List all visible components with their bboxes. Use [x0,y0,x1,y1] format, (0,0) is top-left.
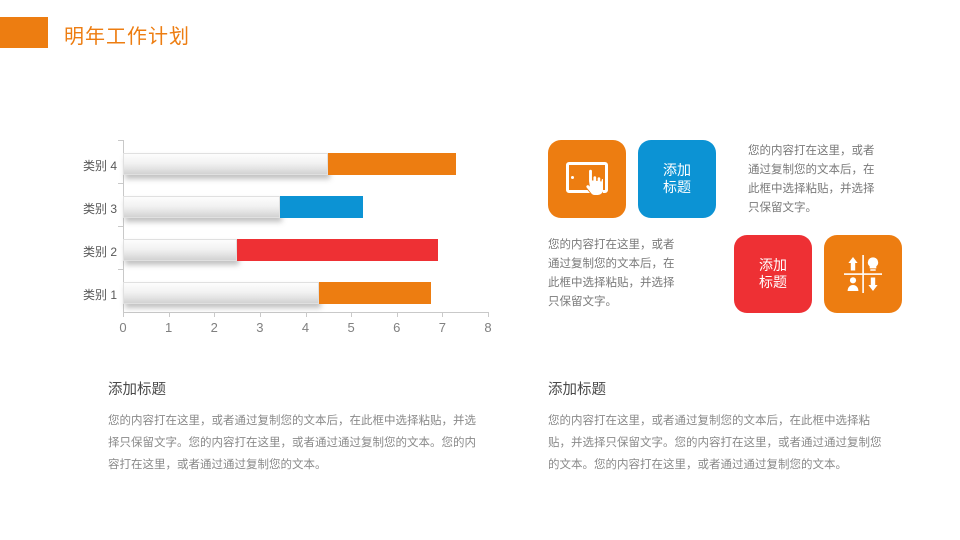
tile-touch[interactable] [548,140,626,218]
bar-row [123,196,363,218]
x-axis-tick-label: 1 [165,320,172,335]
bar-segment-value [328,153,456,175]
x-axis-tick [260,312,261,317]
x-axis-tick [169,312,170,317]
bottom-left-title: 添加标题 [108,378,482,399]
chart-category-label: 类别 4 [83,157,117,174]
bottom-right-body: 您的内容打在这里，或者通过复制您的文本后，在此框中选择粘贴，并选择只保留文字。您… [548,411,888,477]
page-title: 明年工作计划 [64,20,190,49]
bar-segment-value [319,282,431,304]
x-axis-tick-label: 8 [484,320,491,335]
bar-row [123,282,431,304]
y-axis-tick [118,183,123,184]
bar-segment-value [237,239,438,261]
bar-row [123,239,438,261]
chart-category-label: 类别 2 [83,243,117,260]
y-axis-tick [118,226,123,227]
icon-tile-grid: 添加 标题 添加 标题 您的内容打在这里，或者通过复制您的文本后，在此框中选择粘… [548,140,918,320]
x-axis-tick-label: 2 [211,320,218,335]
bottom-left-body: 您的内容打在这里，或者通过复制您的文本后，在此框中选择粘贴，并选择只保留文字。您… [108,411,482,477]
bar-segment-base [123,196,280,218]
x-axis-tick [442,312,443,317]
x-axis-tick-label: 0 [119,320,126,335]
chart-category-label: 类别 1 [83,286,117,303]
x-axis-tick-label: 7 [439,320,446,335]
tile-grid-icon[interactable] [824,235,902,313]
y-axis-tick [118,140,123,141]
x-axis-tick [397,312,398,317]
bar-segment-base [123,239,237,261]
x-axis-tick-label: 3 [256,320,263,335]
bar-segment-value [280,196,362,218]
bottom-right-title: 添加标题 [548,378,888,399]
chart-category-label: 类别 3 [83,200,117,217]
x-axis-tick-label: 6 [393,320,400,335]
y-axis-tick [118,269,123,270]
bar-segment-base [123,153,328,175]
x-axis-tick [214,312,215,317]
bar-chart: 类别 1类别 2类别 3类别 4 012345678 [60,132,510,332]
header-accent-block [0,17,48,48]
right-paragraph-top: 您的内容打在这里，或者通过复制您的文本后，在此框中选择粘贴，并选择只保留文字。 [748,142,885,218]
x-axis-tick-label: 5 [348,320,355,335]
tile-add-title-blue[interactable]: 添加 标题 [638,140,716,218]
touchscreen-hand-icon [566,162,608,196]
arrows-bulb-person-grid-icon [843,254,883,294]
slide-header: 明年工作计划 [0,0,960,62]
right-paragraph-bottom: 您的内容打在这里，或者通过复制您的文本后，在此框中选择粘贴，并选择只保留文字。 [548,236,685,312]
bottom-right-block: 添加标题 您的内容打在这里，或者通过复制您的文本后，在此框中选择粘贴，并选择只保… [548,378,888,477]
x-axis-tick-label: 4 [302,320,309,335]
x-axis-tick [488,312,489,317]
bar-row [123,153,456,175]
bottom-left-block: 添加标题 您的内容打在这里，或者通过复制您的文本后，在此框中选择粘贴，并选择只保… [108,378,482,477]
tile-blue-label: 添加 标题 [663,162,691,196]
x-axis-tick [306,312,307,317]
x-axis-tick [123,312,124,317]
tile-add-title-red[interactable]: 添加 标题 [734,235,812,313]
tile-red-label: 添加 标题 [759,257,787,291]
x-axis-tick [351,312,352,317]
bar-segment-base [123,282,319,304]
